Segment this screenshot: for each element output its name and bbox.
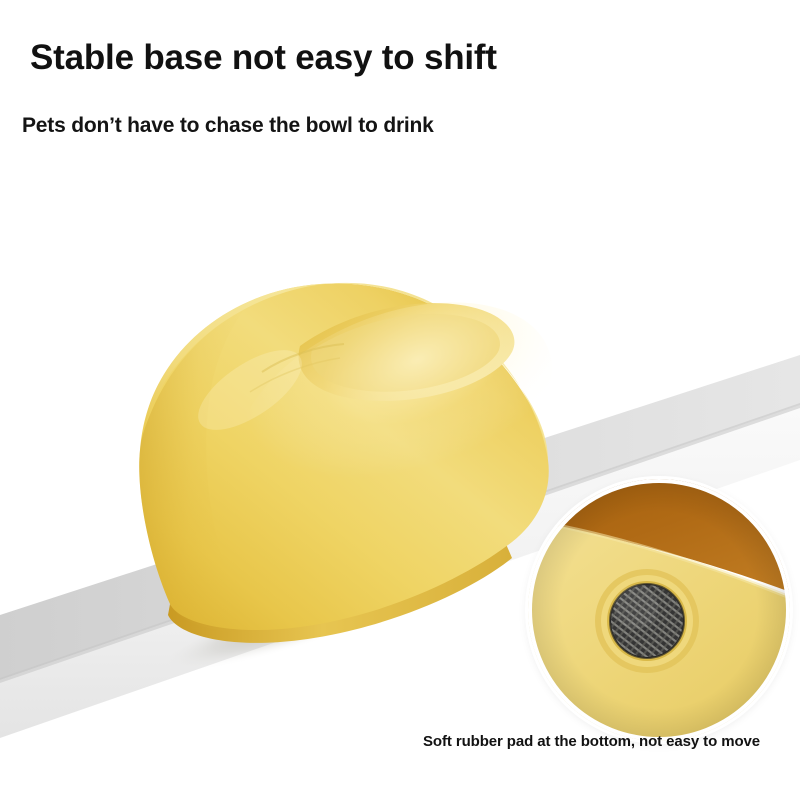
page-title: Stable base not easy to shift — [30, 38, 497, 78]
rubber-pad-closeup-circle — [528, 479, 790, 741]
feature-caption: Soft rubber pad at the bottom, not easy … — [423, 733, 760, 750]
product-feature-image: Stable base not easy to shift Pets don’t… — [0, 0, 800, 800]
page-subtitle: Pets don’t have to chase the bowl to dri… — [22, 114, 434, 138]
